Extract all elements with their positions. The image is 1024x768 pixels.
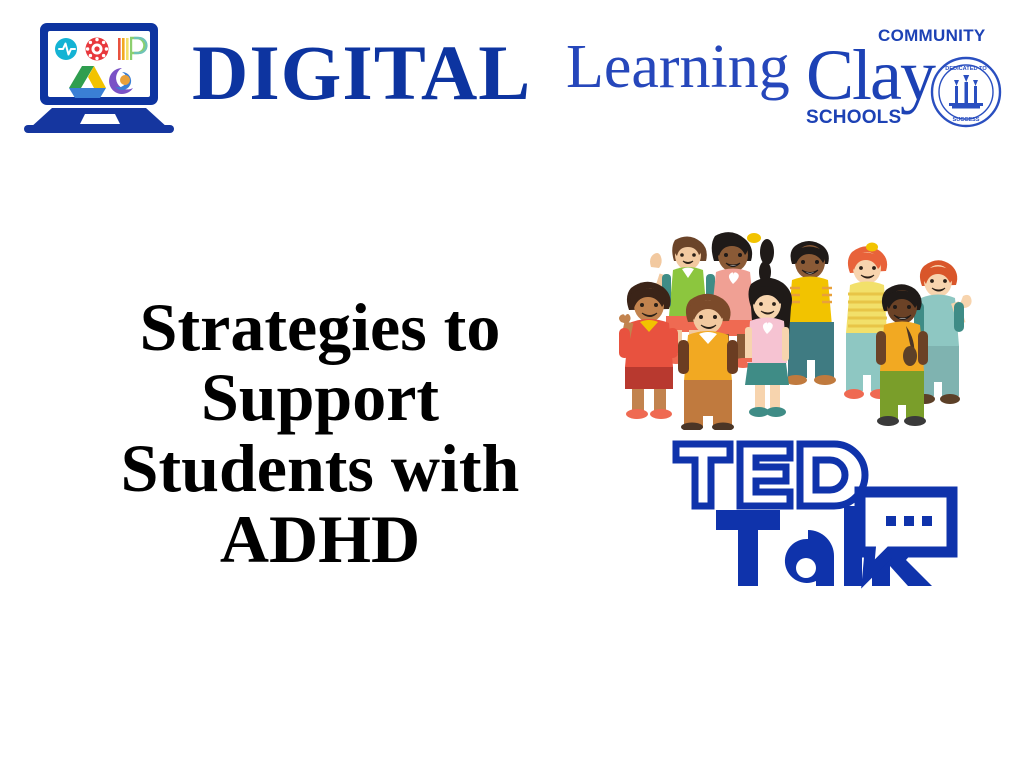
clay-schools-seal-icon: DEDICATED TO SUCCESS <box>930 56 1002 128</box>
student-green-pants-boy <box>876 284 928 426</box>
svg-text:DEDICATED TO: DEDICATED TO <box>945 66 987 72</box>
ted-wordmark <box>676 444 865 506</box>
student-waving-red-shirt <box>619 282 678 419</box>
brand-learning-wordmark: Learning <box>566 36 790 98</box>
clay-logo-name-text: Clay <box>806 39 934 111</box>
header-branding-band: DIGITAL Learning COMMUNITY Clay SCHOOLS <box>0 0 1024 150</box>
title-line-4: ADHD <box>20 504 620 575</box>
title-line-3: Students with <box>20 433 620 504</box>
diverse-students-group-illustration <box>618 222 1010 430</box>
brand-digital-wordmark: DIGITAL <box>192 34 531 112</box>
laptop-icon <box>18 20 190 135</box>
title-line-1: Strategies to <box>20 292 620 363</box>
student-pink-shirt-girl <box>745 278 792 417</box>
clay-logo-schools-text: SCHOOLS <box>806 107 901 129</box>
student-yellow-shirt-boy <box>678 294 738 430</box>
microsoft-365-icon <box>109 68 135 94</box>
clay-community-schools-logo: COMMUNITY Clay SCHOOLS <box>806 22 1010 134</box>
pulse-wave-icon <box>55 38 77 60</box>
title-line-2: Support <box>20 362 620 433</box>
svg-text:SUCCESS: SUCCESS <box>952 117 979 123</box>
canvas-lms-icon <box>86 38 109 61</box>
ted-talk-logo <box>668 434 960 594</box>
slide-canvas: DIGITAL Learning COMMUNITY Clay SCHOOLS <box>0 0 1024 768</box>
student-yellow-stripe-boy <box>785 241 836 385</box>
slide-title: Strategies to Support Students with ADHD <box>20 292 620 575</box>
